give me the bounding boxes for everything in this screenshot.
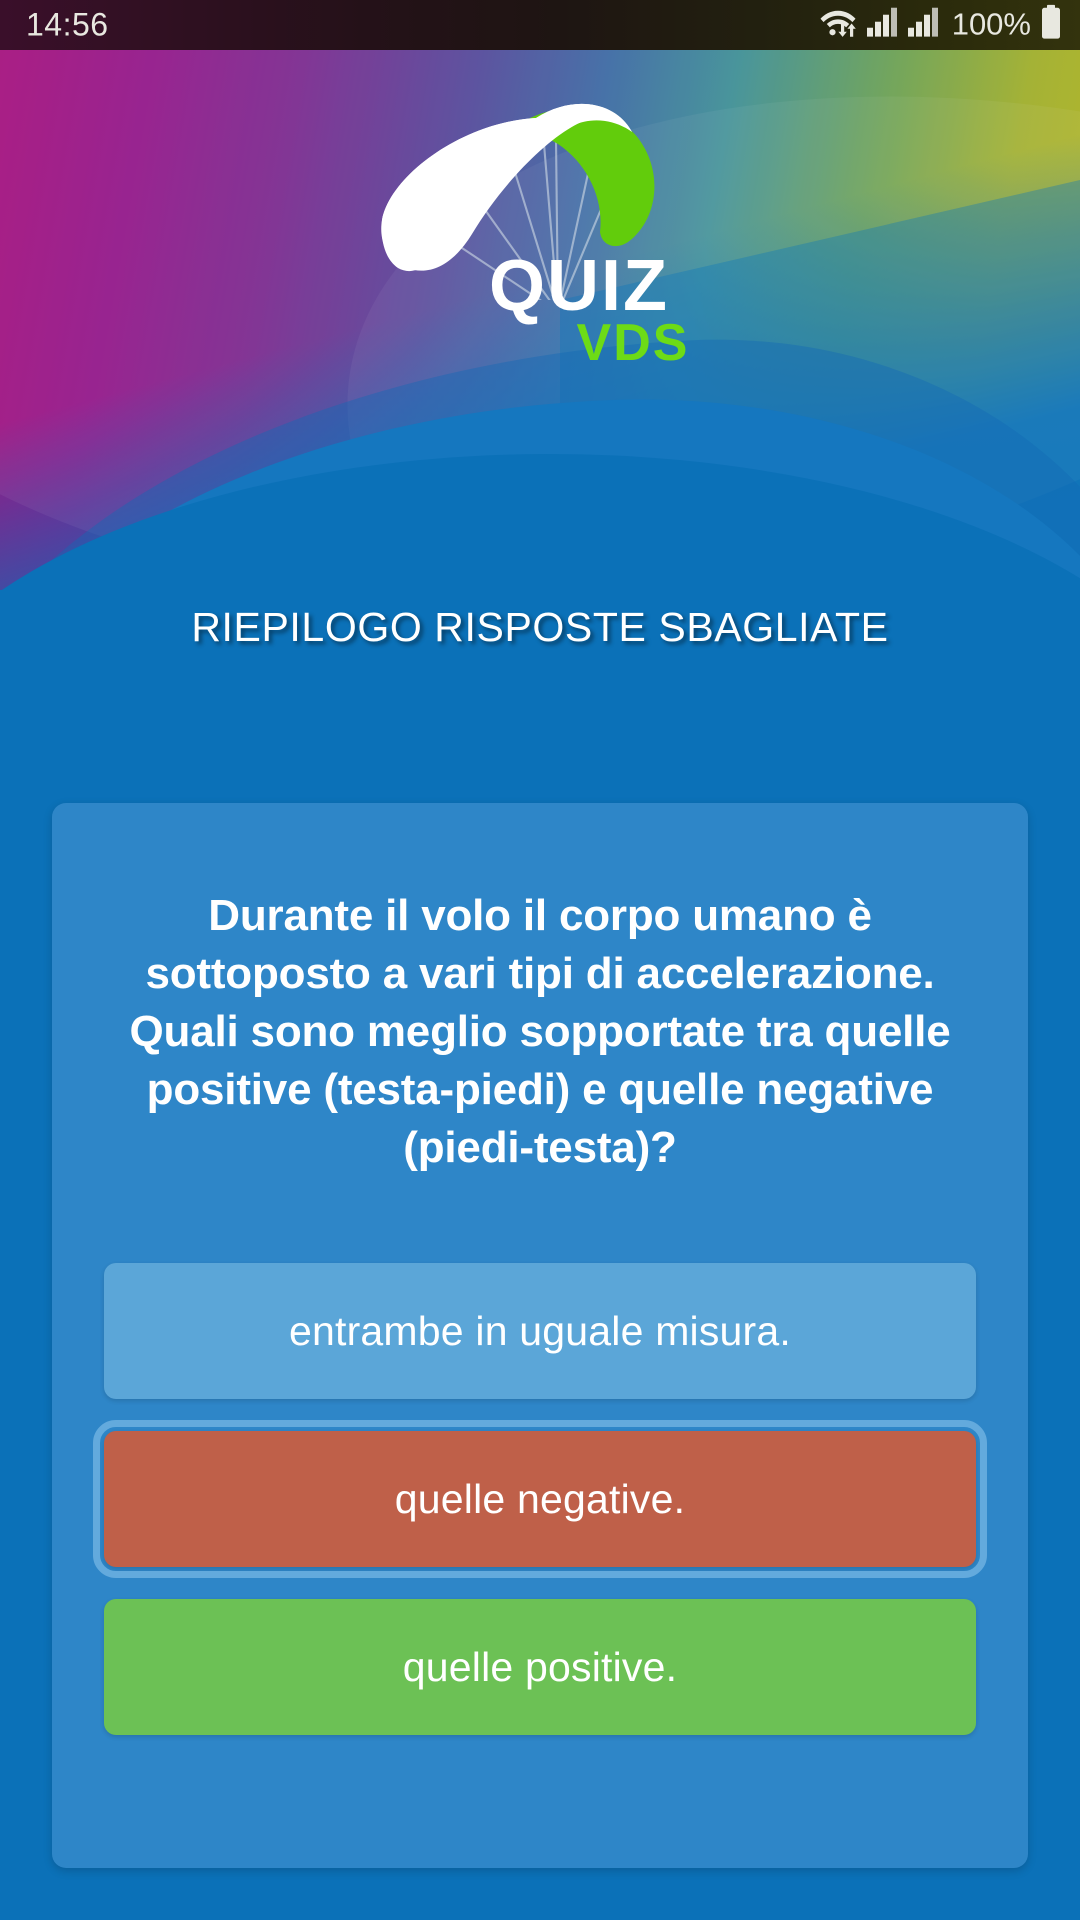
wifi-transfer-icon [819, 5, 859, 44]
app-logo: QUIZ VDS [0, 60, 1080, 350]
question-card: Durante il volo il corpo umano è sottopo… [52, 803, 1028, 1868]
page-title: RIEPILOGO RISPOSTE SBAGLIATE [0, 604, 1080, 651]
answer-option-1[interactable]: quelle negative. [104, 1431, 976, 1567]
logo-wordmark: QUIZ VDS [0, 252, 1080, 369]
answer-option-0[interactable]: entrambe in uguale misura. [104, 1263, 976, 1399]
logo-primary-text: QUIZ [78, 252, 1080, 321]
answer-option-label: entrambe in uguale misura. [289, 1308, 791, 1355]
signal-bars-icon [866, 7, 900, 42]
answer-option-label: quelle negative. [395, 1476, 685, 1523]
answer-option-2[interactable]: quelle positive. [104, 1599, 976, 1735]
app-screen: 14:56 [0, 0, 1080, 1920]
status-indicators: 100% [819, 5, 1062, 44]
logo-secondary-text: VDS [186, 317, 1080, 369]
battery-icon [1040, 5, 1062, 44]
battery-percent-label: 100% [952, 6, 1031, 42]
status-clock: 14:56 [26, 7, 109, 44]
question-text: Durante il volo il corpo umano è sottopo… [90, 887, 990, 1177]
signal-bars-icon [907, 7, 941, 42]
status-bar: 14:56 [0, 0, 1080, 50]
answer-options-list: entrambe in uguale misura. quelle negati… [104, 1263, 976, 1767]
answer-option-label: quelle positive. [403, 1644, 677, 1691]
